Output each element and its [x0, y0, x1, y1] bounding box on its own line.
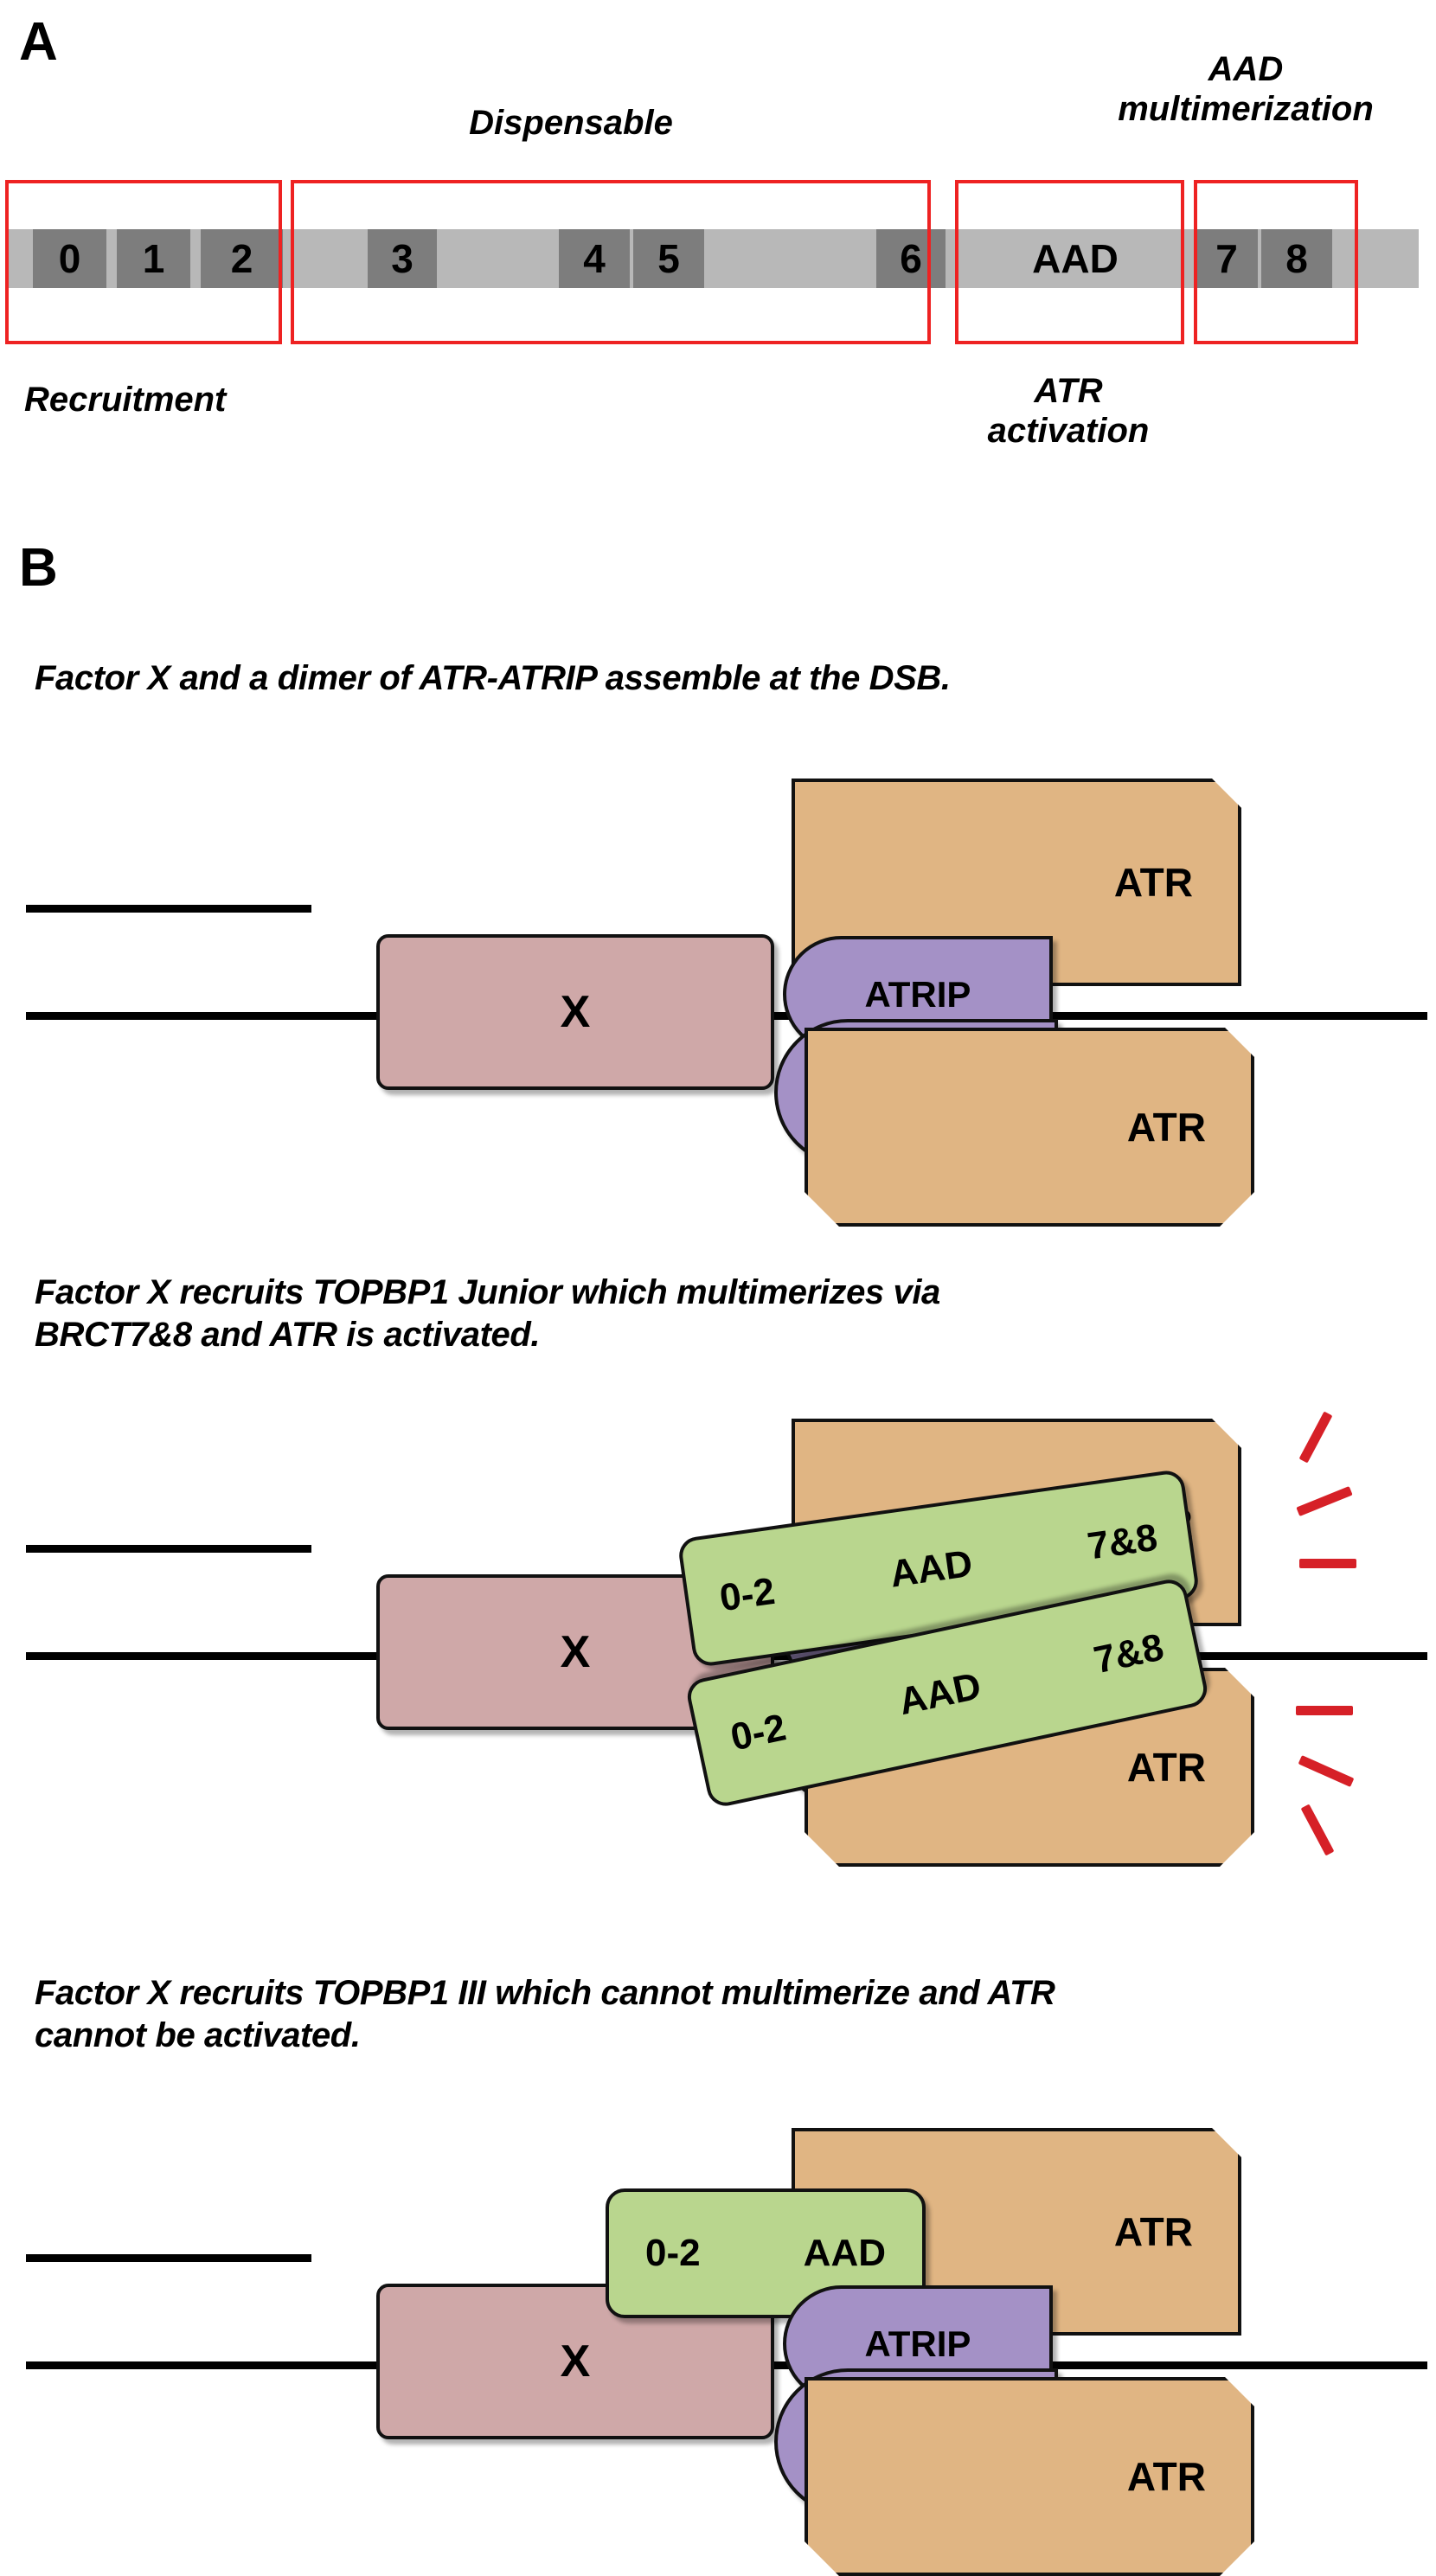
factor-x-label: X — [561, 2336, 591, 2387]
activation-spark-icon — [1296, 1706, 1353, 1715]
activation-spark-icon — [1299, 1412, 1333, 1464]
topbp1-lower-brct02-label: 0-2 — [727, 1706, 790, 1759]
scenario-1-diagram: ATR X ATRIP ATRIP ATR — [0, 761, 1436, 1211]
scenario-3-caption: Factor X recruits TOPBP1 III which canno… — [35, 1972, 1055, 2057]
atr-bottom-shape: ATR — [805, 1028, 1254, 1227]
topbp1-lower-brct78-label: 7&8 — [1090, 1626, 1167, 1683]
atrip-upper-label: ATRIP — [865, 974, 971, 1016]
dna-short-strand — [26, 1545, 311, 1553]
factor-x-label: X — [561, 1626, 591, 1678]
dispensable-label: Dispensable — [407, 104, 735, 144]
activation-spark-icon — [1296, 1486, 1352, 1516]
atr-bottom-label: ATR — [1127, 1744, 1206, 1791]
atrip-upper-label: ATRIP — [865, 2323, 971, 2365]
activation-spark-icon — [1298, 1755, 1355, 1787]
atr-bottom-shape: ATR — [805, 2377, 1254, 2576]
scenario-1-caption: Factor X and a dimer of ATR-ATRIP assemb… — [35, 657, 951, 700]
atr-bottom-label: ATR — [1127, 1104, 1206, 1150]
panel-b-letter: B — [19, 541, 57, 595]
scenario-3: Factor X recruits TOPBP1 III which canno… — [0, 1972, 1436, 2543]
atr-activation-label: ATR activation — [930, 372, 1207, 451]
factor-x-label: X — [561, 986, 591, 1038]
panel-a-letter: A — [19, 16, 57, 69]
aad-multimerization-box — [1194, 180, 1358, 344]
scenario-2-caption: Factor X recruits TOPBP1 Junior which mu… — [35, 1272, 940, 1356]
dna-short-strand — [26, 2254, 311, 2262]
aad-multimerization-label: AAD multimerization — [1064, 50, 1427, 129]
atr-top-label: ATR — [1114, 859, 1193, 906]
panel-a: A Dispensable AAD multimerization 0 1 2 … — [0, 0, 1436, 510]
topbp1-upper-brct78-label: 7&8 — [1085, 1516, 1160, 1569]
topbp1-single-aad-label: AAD — [804, 2232, 886, 2275]
activation-spark-icon — [1299, 1559, 1356, 1568]
scenario-2: Factor X recruits TOPBP1 Junior which mu… — [0, 1272, 1436, 1938]
recruitment-label: Recruitment — [24, 381, 226, 420]
factor-x-shape: X — [376, 934, 774, 1090]
panel-b: B Factor X and a dimer of ATR-ATRIP asse… — [0, 519, 1436, 2541]
topbp1-upper-brct02-label: 0-2 — [717, 1570, 778, 1620]
topbp1-lower-aad-label: AAD — [895, 1664, 985, 1724]
atr-top-label: ATR — [1114, 2208, 1193, 2255]
dna-short-strand — [26, 905, 311, 913]
recruitment-box — [5, 180, 282, 344]
scenario-1: Factor X and a dimer of ATR-ATRIP assemb… — [0, 631, 1436, 1220]
activation-spark-icon — [1301, 1804, 1335, 1856]
topbp1-single-brct02-label: 0-2 — [645, 2232, 701, 2275]
atr-bottom-label: ATR — [1127, 2453, 1206, 2500]
dispensable-box — [291, 180, 931, 344]
scenario-2-diagram: ATR X ATRIP ATRIP ATR 0-2 — [0, 1401, 1436, 1920]
atr-activation-box — [955, 180, 1184, 344]
topbp1-upper-aad-label: AAD — [888, 1542, 975, 1597]
scenario-3-diagram: ATR X 0-2 AAD ATRIP ATRIP — [0, 2111, 1436, 2543]
